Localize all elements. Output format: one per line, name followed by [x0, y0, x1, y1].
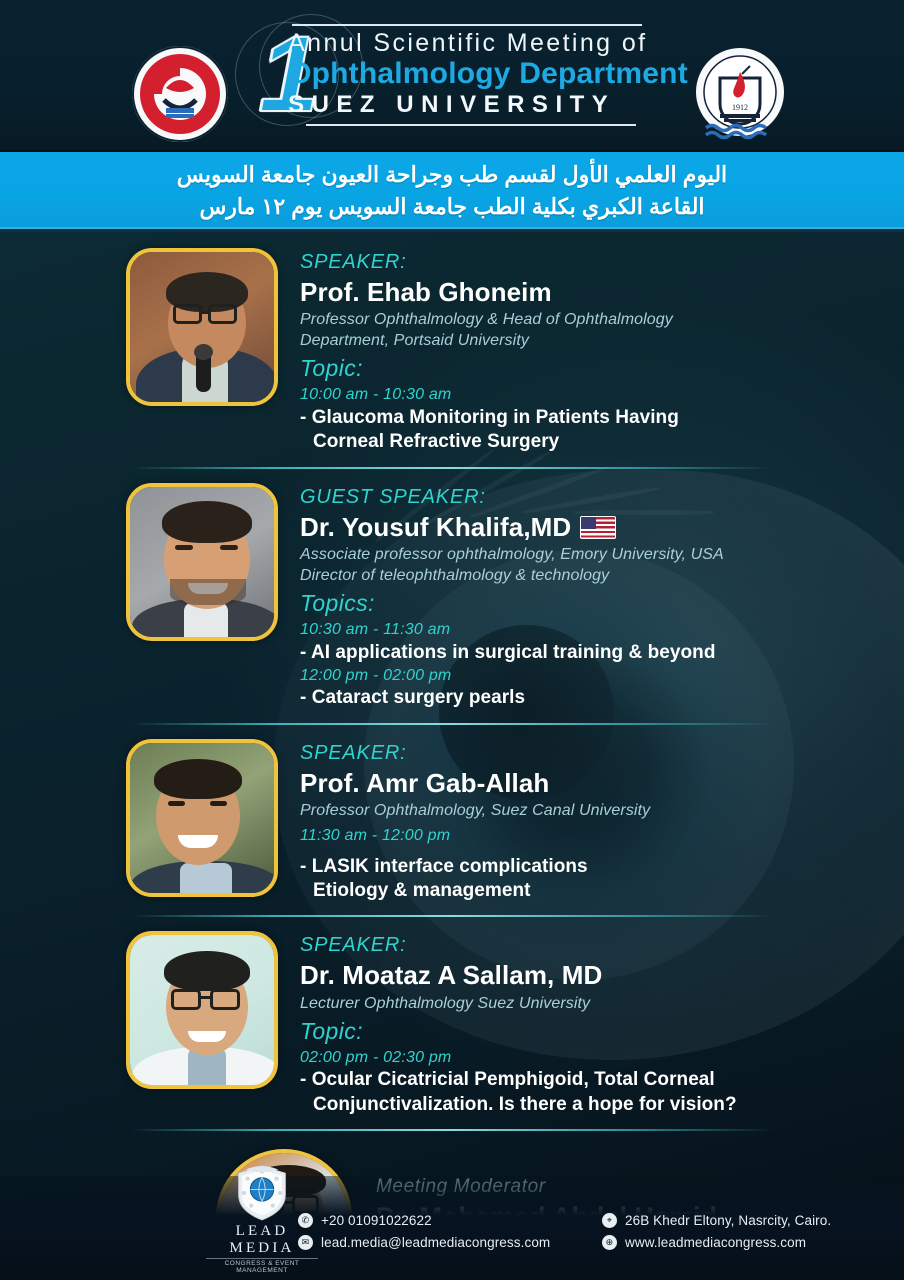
speaker-name-text: Dr. Moataz A Sallam, MD [300, 959, 602, 992]
speaker-role: SPEAKER: [300, 741, 880, 766]
speaker-entry: SPEAKER: Prof. Amr Gab-Allah Professor O… [0, 729, 904, 912]
envelope-icon: ✉ [298, 1235, 313, 1250]
session-title-cont: Corneal Refractive Surgery [300, 430, 880, 454]
session-title-cont: Conjunctivalization. Is there a hope for… [300, 1093, 880, 1117]
address-text: 26B Khedr Eltony, Nasrcity, Cairo. [625, 1213, 831, 1228]
poster-header: 1 Annul Scientific Meeting of Ophthalmol… [0, 0, 904, 152]
speaker-photo-amr-gab-allah [126, 739, 278, 897]
speaker-role: SPEAKER: [300, 933, 880, 958]
speaker-role: GUEST SPEAKER: [300, 485, 880, 510]
speaker-name-text: Dr. Yousuf Khalifa,MD [300, 511, 571, 544]
poster-footer: LEAD MEDIA CONGRESS & EVENT MANAGEMENT ✆… [0, 1176, 904, 1280]
speaker-photo-wrap [126, 739, 278, 897]
conference-poster: 1 Annul Scientific Meeting of Ophthalmol… [0, 0, 904, 1280]
topic-label: Topic: [300, 1017, 880, 1047]
contact-info: ✆ +20 01091022622 ⌖ 26B Khedr Eltony, Na… [298, 1213, 902, 1250]
speaker-affiliation: Lecturer Ophthalmology Suez University [300, 993, 880, 1014]
session-time: 12:00 pm - 02:00 pm [300, 665, 880, 687]
session-title-line: - Ocular Cicatricial Pemphigoid, Total C… [300, 1069, 715, 1090]
contact-phone[interactable]: ✆ +20 01091022622 [298, 1213, 588, 1228]
lead-media-shield-icon [235, 1164, 289, 1222]
session-time: 02:00 pm - 02:30 pm [300, 1047, 880, 1069]
speaker-info: GUEST SPEAKER: Dr. Yousuf Khalifa,MD Ass… [300, 483, 880, 711]
meeting-title-line2: Ophthalmology Department [288, 57, 688, 90]
title-rule-bottom [306, 124, 636, 126]
section-divider [130, 1129, 774, 1131]
contact-address: ⌖ 26B Khedr Eltony, Nasrcity, Cairo. [602, 1213, 902, 1228]
topic-label: Topics: [300, 589, 880, 619]
speaker-entry: GUEST SPEAKER: Dr. Yousuf Khalifa,MD Ass… [0, 473, 904, 719]
email-text: lead.media@leadmediacongress.com [321, 1235, 550, 1250]
suez-university-logo: 1912 [688, 44, 792, 144]
speaker-name: Prof. Amr Gab-Allah [300, 767, 880, 800]
banner-line-1: اليوم العلمي الأول لقسم طب وجراحة العيون… [177, 159, 727, 190]
meeting-title-line1: Annul Scientific Meeting of [288, 30, 688, 56]
speaker-photo-yousuf-khalifa [126, 483, 278, 641]
contact-website[interactable]: ⊕ www.leadmediacongress.com [602, 1235, 902, 1250]
section-divider [130, 467, 774, 469]
session-time: 11:30 am - 12:00 pm [300, 825, 880, 847]
phone-icon: ✆ [298, 1213, 313, 1228]
speaker-name: Dr. Yousuf Khalifa,MD [300, 511, 880, 544]
speaker-affiliation: Associate professor ophthalmology, Emory… [300, 544, 880, 565]
speakers-list: SPEAKER: Prof. Ehab Ghoneim Professor Op… [0, 232, 904, 1280]
speaker-photo-moataz-sallam [126, 931, 278, 1089]
speaker-info: SPEAKER: Dr. Moataz A Sallam, MD Lecture… [300, 931, 880, 1116]
topic-label: Topic: [300, 354, 880, 384]
shield-globe-icon [235, 1164, 289, 1222]
session-title-cont: Etiology & management [300, 879, 880, 903]
svg-text:1912: 1912 [732, 103, 748, 112]
speaker-photo-wrap [126, 931, 278, 1089]
speaker-entry: SPEAKER: Dr. Moataz A Sallam, MD Lecture… [0, 921, 904, 1124]
contact-email[interactable]: ✉ lead.media@leadmediacongress.com [298, 1235, 588, 1250]
speaker-name: Prof. Ehab Ghoneim [300, 276, 880, 309]
session-title: - LASIK interface complications Etiology… [300, 855, 880, 904]
banner-line-2: القاعة الكبري بكلية الطب جامعة السويس يو… [199, 191, 704, 222]
globe-icon: ⊕ [602, 1235, 617, 1250]
session-title: - AI applications in surgical training &… [300, 641, 880, 665]
speaker-role: SPEAKER: [300, 250, 880, 275]
website-text: www.leadmediacongress.com [625, 1235, 806, 1250]
usa-flag-icon [580, 516, 616, 539]
speaker-affiliation: Department, Portsaid University [300, 330, 880, 351]
session-time: 10:30 am - 11:30 am [300, 619, 880, 641]
section-divider [130, 915, 774, 917]
suez-university-logo-icon: 1912 [688, 44, 792, 144]
speaker-photo-ehab-ghoneim [126, 248, 278, 406]
session-title: - Glaucoma Monitoring in Patients Having… [300, 406, 880, 455]
speaker-info: SPEAKER: Prof. Amr Gab-Allah Professor O… [300, 739, 880, 904]
speaker-affiliation: Professor Ophthalmology, Suez Canal Univ… [300, 800, 880, 821]
speaker-affiliation: Professor Ophthalmology & Head of Ophtha… [300, 309, 880, 330]
speaker-info: SPEAKER: Prof. Ehab Ghoneim Professor Op… [300, 248, 880, 455]
speaker-entry: SPEAKER: Prof. Ehab Ghoneim Professor Op… [0, 238, 904, 463]
speaker-photo-wrap [126, 248, 278, 406]
title-rule-top [292, 24, 642, 26]
section-divider [130, 723, 774, 725]
session-title-line: - Glaucoma Monitoring in Patients Having [300, 407, 679, 428]
phone-text: +20 01091022622 [321, 1213, 432, 1228]
arabic-event-banner: اليوم العلمي الأول لقسم طب وجراحة العيون… [0, 152, 904, 232]
session-title: - Ocular Cicatricial Pemphigoid, Total C… [300, 1068, 880, 1117]
speaker-name: Dr. Moataz A Sallam, MD [300, 959, 880, 992]
meeting-title-line3: SUEZ UNIVERSITY [288, 91, 688, 119]
session-time: 10:00 am - 10:30 am [300, 384, 880, 406]
session-title: - Cataract surgery pearls [300, 686, 880, 710]
lead-media-tagline: CONGRESS & EVENT MANAGEMENT [206, 1258, 318, 1275]
session-title-line: - LASIK interface complications [300, 856, 588, 877]
speaker-name-text: Prof. Ehab Ghoneim [300, 276, 552, 309]
speaker-photo-wrap [126, 483, 278, 641]
location-pin-icon: ⌖ [602, 1213, 617, 1228]
speaker-affiliation: Director of teleophthalmology & technolo… [300, 565, 880, 586]
speaker-name-text: Prof. Amr Gab-Allah [300, 767, 549, 800]
